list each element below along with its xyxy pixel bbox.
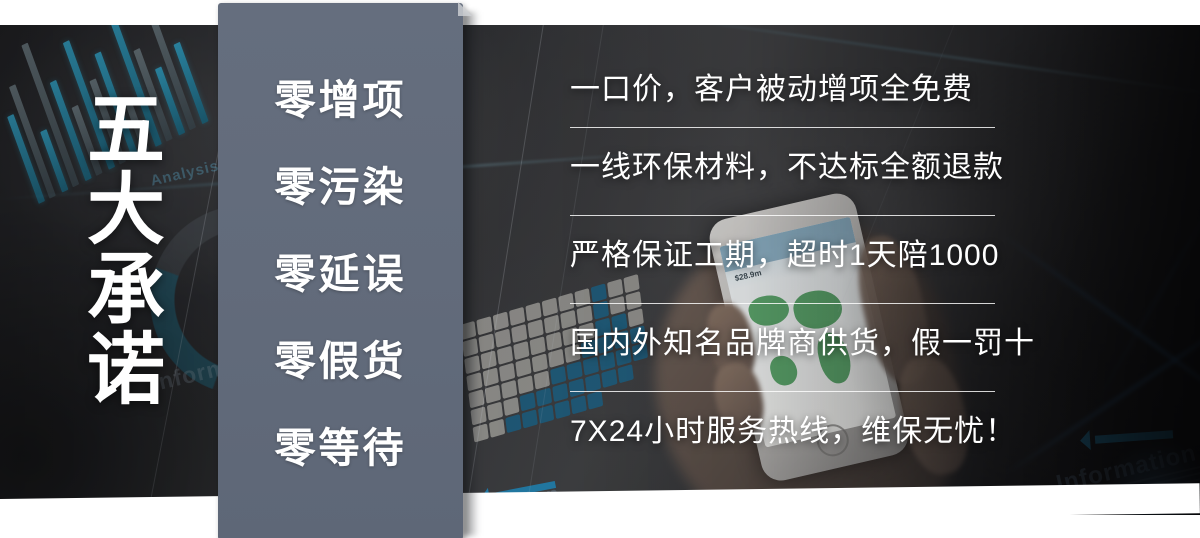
promise-banner: $28.9m Analysis Information Information … [0,0,1200,538]
panel-drop-shadow [463,12,479,536]
promise-text-5: 7X24小时服务热线，维保无忧！ [570,406,1016,450]
promise-text-2: 一线环保材料，不达标全额退款 [570,142,1004,186]
panel-item-1: 零增项 [275,57,407,144]
promise-row: 一口价，客户被动增项全免费 [570,50,1000,128]
panel-item-5: 零等待 [275,405,407,492]
promise-text-3: 严格保证工期，超时1天陪1000 [570,230,999,274]
zero-promise-panel: 零增项 零污染 零延误 零假货 零等待 [218,3,463,538]
promise-row: 严格保证工期，超时1天陪1000 [570,216,1000,304]
promise-row: 国内外知名品牌商供货，假一罚十 [570,304,1000,392]
promise-text-4: 国内外知名品牌商供货，假一罚十 [570,318,1035,362]
panel-item-2: 零污染 [275,144,407,231]
promise-row: 7X24小时服务热线，维保无忧！ [570,392,1000,480]
promise-text-1: 一口价，客户被动增项全免费 [570,64,973,108]
page-title: 五大承诺 [63,88,159,408]
panel-item-3: 零延误 [275,231,407,318]
promise-row: 一线环保材料，不达标全额退款 [570,128,1000,216]
panel-item-4: 零假货 [275,318,407,405]
promise-list: 一口价，客户被动增项全免费 一线环保材料，不达标全额退款 严格保证工期，超时1天… [570,50,1000,480]
